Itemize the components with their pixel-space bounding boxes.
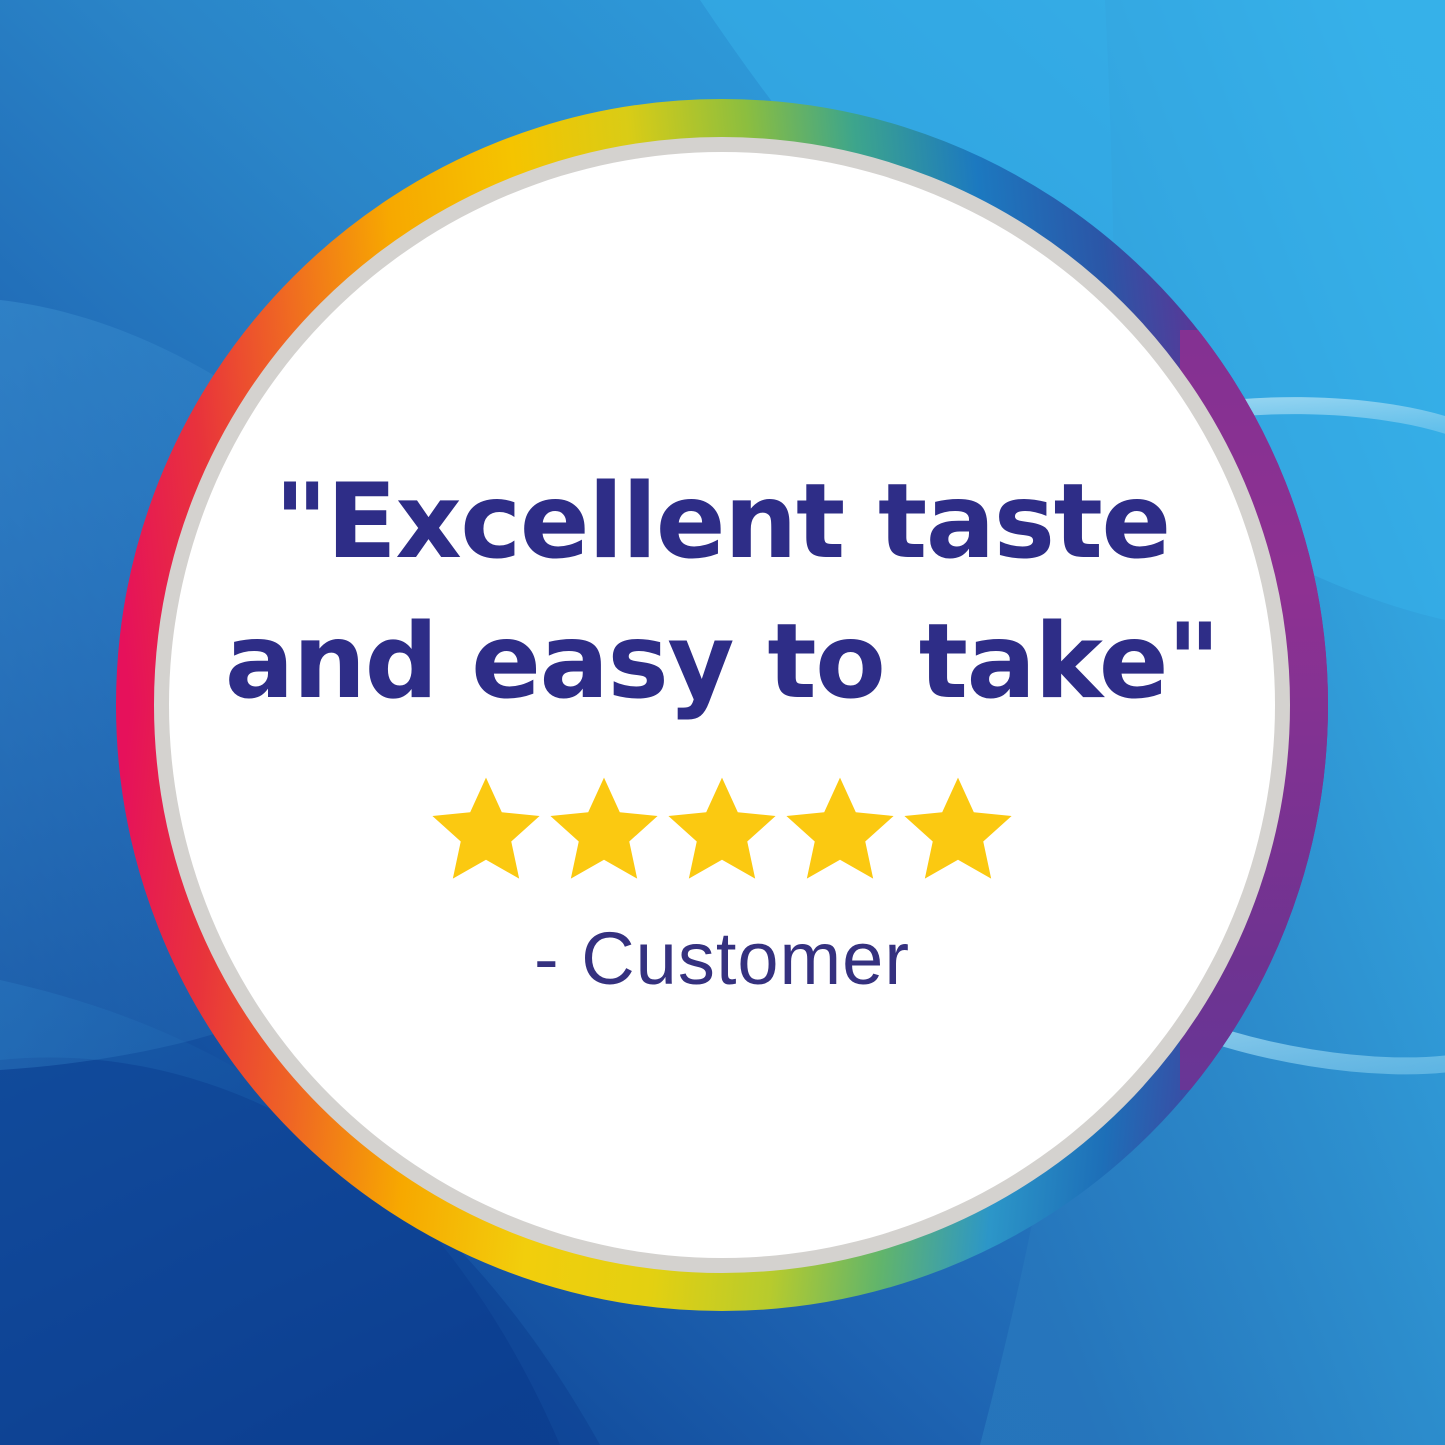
badge-ring (0, 0, 1445, 1445)
badge-white-disc (169, 152, 1275, 1258)
testimonial-graphic: "Excellent taste and easy to take" - Cus… (0, 0, 1445, 1445)
